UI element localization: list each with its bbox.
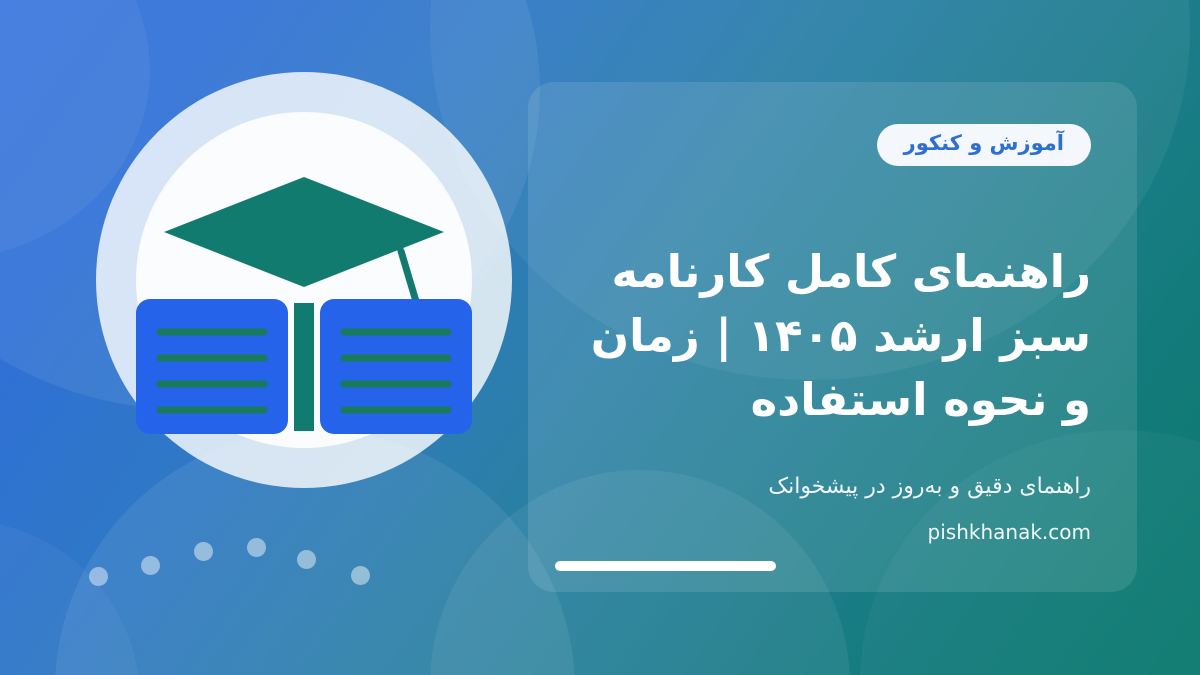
decorative-dot [351, 566, 370, 585]
content-card: آموزش و کنکور راهنمای کامل کارنامه سبز ا… [528, 82, 1137, 592]
subtitle: راهنمای دقیق و به‌روز در پیشخوانک [574, 470, 1091, 503]
education-illustration [96, 72, 512, 488]
category-badge[interactable]: آموزش و کنکور [877, 124, 1091, 166]
decorative-dot [89, 567, 108, 586]
promo-banner: آموزش و کنکور راهنمای کامل کارنامه سبز ا… [0, 0, 1200, 675]
site-domain: pishkhanak.com [574, 519, 1091, 545]
graduation-cap-icon [164, 177, 444, 308]
accent-bar [555, 561, 776, 571]
decorative-dot [297, 550, 316, 569]
decorative-dot [247, 538, 266, 557]
open-book-icon [136, 299, 472, 434]
background-blob-far-left-bottom [0, 520, 140, 675]
decorative-dot [141, 556, 160, 575]
emblem [96, 72, 512, 488]
page-title: راهنمای کامل کارنامه سبز ارشد ۱۴۰۵ | زما… [574, 240, 1091, 432]
decorative-dot [194, 542, 213, 561]
